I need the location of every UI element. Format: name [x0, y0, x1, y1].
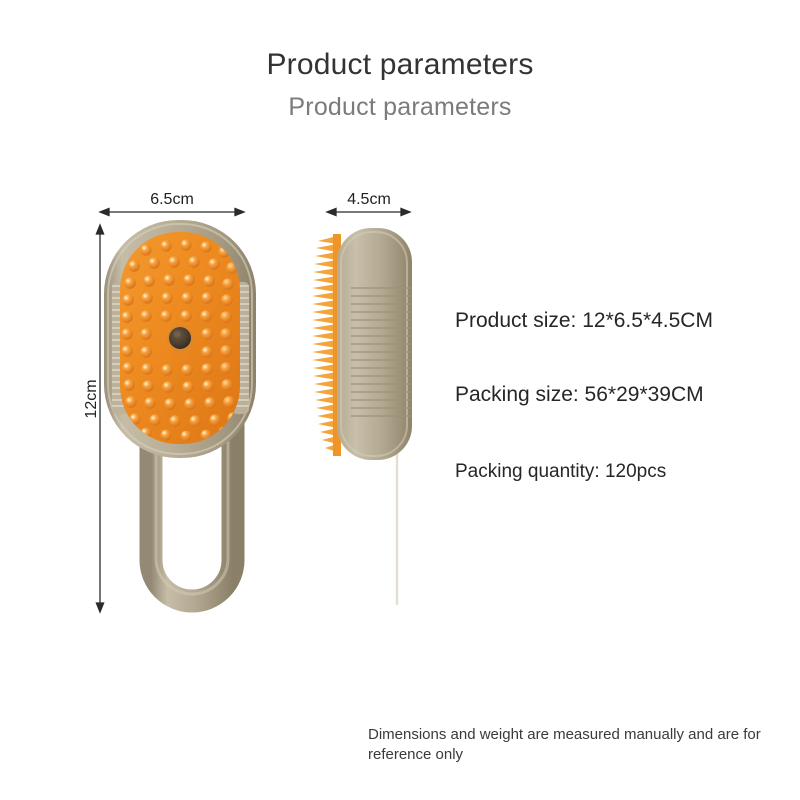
width-dimension-label: 6.5cm: [100, 191, 244, 209]
depth-dimension-label: 4.5cm: [327, 191, 411, 209]
center-hole-highlight: [174, 331, 181, 338]
center-hole: [169, 327, 191, 349]
spec-product-size: Product size: 12*6.5*4.5CM: [455, 309, 713, 333]
product-parameters-page: Product parameters Product parameters: [0, 0, 800, 800]
spec-packing-quantity: Packing quantity: 120pcs: [455, 461, 666, 483]
height-dimension-label: 12cm: [83, 369, 101, 429]
brush-side-view: [312, 228, 414, 612]
width-dimension-arrow: [100, 208, 244, 215]
brush-front-view: [104, 220, 256, 601]
side-bristles: [312, 234, 341, 456]
spec-packing-size: Packing size: 56*29*39CM: [455, 383, 704, 407]
measurement-disclaimer: Dimensions and weight are measured manua…: [368, 725, 768, 765]
depth-dimension-arrow: [327, 208, 410, 215]
